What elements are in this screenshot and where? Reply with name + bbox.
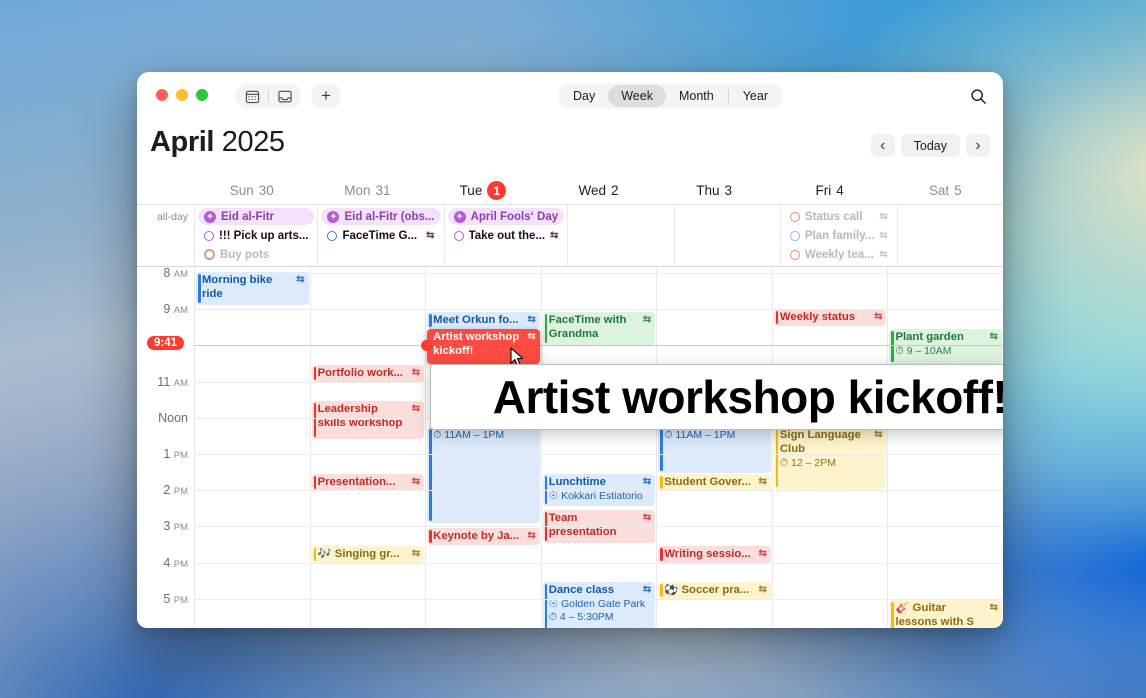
day-name: Fri: [816, 183, 832, 198]
day-header-sat[interactable]: Sat 5: [887, 183, 1003, 198]
event-color-bar: [891, 602, 894, 628]
event-title: Dance class: [549, 584, 639, 598]
day-number: 2: [611, 183, 619, 198]
day-number: 5: [954, 183, 962, 198]
day-name: Tue: [460, 183, 483, 198]
calendar-event[interactable]: ⏱ 11AM – 1PM: [658, 427, 771, 473]
event-title: Writing sessio...: [664, 548, 754, 562]
hour-line: [194, 273, 1003, 274]
event-title: Plan family...: [805, 230, 874, 242]
event-title: Portfolio work...: [318, 367, 408, 381]
hour-label: 3 PM: [163, 519, 188, 533]
day-number: 30: [259, 183, 274, 198]
event-color-bar: [660, 548, 663, 561]
day-header-fri[interactable]: Fri 4: [772, 183, 888, 198]
event-color-bar: [891, 331, 894, 362]
next-week-button[interactable]: ›: [966, 134, 990, 157]
event-time: ⏱ 11AM – 1PM: [664, 429, 767, 442]
hour-line: [194, 490, 1003, 491]
event-time: ⏱ 9 – 10AM: [895, 345, 998, 358]
day-column-thu[interactable]: ⏱ 11AM – 1PMStudent Gover...⇆Writing ses…: [656, 267, 772, 628]
day-name: Wed: [579, 183, 607, 198]
event-title: FaceTime with Grandma: [549, 314, 639, 342]
event-time: ⏱ 4 – 5:30PM: [549, 611, 652, 624]
all-day-event[interactable]: ✦ Eid al-Fitr: [198, 208, 314, 225]
event-time: ⏱ 11AM – 1PM: [433, 429, 536, 442]
event-title: Plant garden: [895, 331, 985, 345]
current-time-pill: 9:41: [147, 336, 184, 350]
maximize-button[interactable]: [196, 89, 208, 101]
all-day-reminder-completed[interactable]: Buy pots: [198, 246, 314, 263]
reminder-circle-icon[interactable]: [204, 231, 214, 241]
day-header-mon[interactable]: Mon 31: [310, 183, 426, 198]
repeat-icon: ⇆: [412, 367, 420, 379]
hour-label: Noon: [158, 411, 188, 425]
hour-label: 9 AM: [163, 302, 188, 316]
calendar-event[interactable]: ⏱ 11AM – 1PM: [427, 427, 540, 523]
hour-label: 5 PM: [163, 592, 188, 606]
all-day-column-sat[interactable]: [897, 205, 1003, 266]
repeat-icon: ⇆: [759, 476, 767, 488]
hour-label: 4 PM: [163, 556, 188, 570]
event-color-bar: [314, 403, 317, 437]
day-column-fri[interactable]: Weekly status⇆Sign Language Club⇆⏱ 12 – …: [772, 267, 888, 628]
reminder-circle-icon[interactable]: [454, 231, 464, 241]
calendar-window: + Day Week Month Year April 2025 ‹ Today…: [137, 72, 1003, 628]
calendar-event[interactable]: Plant garden⇆⏱ 9 – 10AM: [889, 329, 1002, 364]
all-day-label: all-day: [137, 205, 194, 266]
calendar-event[interactable]: Leadership skills workshop⇆: [312, 401, 425, 439]
calendar-event[interactable]: Dance class⇆☉ Golden Gate Park⏱ 4 – 5:30…: [543, 582, 656, 628]
event-color-bar: [429, 429, 432, 521]
event-title: Leadership skills workshop: [318, 403, 408, 431]
event-title: Status call: [805, 211, 874, 223]
day-number: 31: [375, 183, 390, 198]
all-day-event[interactable]: ✦ Eid al-Fitr (obs...: [321, 208, 440, 225]
day-name: Sun: [230, 183, 254, 198]
hour-label: 8 AM: [163, 266, 188, 280]
calendar-event[interactable]: FaceTime with Grandma⇆: [543, 312, 656, 345]
close-button[interactable]: [156, 89, 168, 101]
drag-zoom-overlay: Artist workshop kickoff!: [430, 364, 1003, 430]
repeat-icon: ⇆: [879, 249, 887, 260]
event-title: Eid al-Fitr (obs...: [344, 211, 434, 223]
event-color-bar: [660, 584, 663, 597]
calendar-event[interactable]: 🎶 Singing gr...⇆: [312, 546, 425, 563]
all-day-column-sun[interactable]: ✦ Eid al-Fitr !!! Pick up arts... Buy po…: [194, 205, 317, 266]
event-title: Sign Language Club: [780, 429, 870, 457]
repeat-icon: ⇆: [643, 512, 651, 524]
day-column-mon[interactable]: Portfolio work...⇆Leadership skills work…: [310, 267, 426, 628]
calendar-event[interactable]: Presentation...⇆: [312, 474, 425, 491]
holiday-star-icon: ✦: [204, 211, 216, 223]
repeat-icon: ⇆: [759, 548, 767, 560]
calendar-event[interactable]: Portfolio work...⇆: [312, 365, 425, 382]
day-column-wed[interactable]: FaceTime with Grandma⇆Lunchtime⇆☉ Kokkar…: [541, 267, 657, 628]
day-name: Thu: [696, 183, 719, 198]
event-color-bar: [314, 548, 317, 561]
all-day-reminder[interactable]: Take out the... ⇆: [448, 227, 565, 244]
calendar-event[interactable]: Writing sessio...⇆: [658, 546, 771, 563]
event-color-bar: [314, 476, 317, 489]
event-title: Student Gover...: [664, 476, 754, 490]
tab-year[interactable]: Year: [730, 85, 781, 107]
view-mode-tabs: Day Week Month Year: [558, 83, 783, 109]
timed-grid[interactable]: 8 AM9 AM11 AMNoon1 PM2 PM3 PM4 PM5 PM Mo…: [137, 266, 1003, 628]
reminder-circle-icon[interactable]: [790, 231, 800, 241]
hour-line: [194, 454, 1003, 455]
day-header-sun[interactable]: Sun 30: [194, 183, 310, 198]
tab-week[interactable]: Week: [608, 85, 666, 107]
traffic-lights: [156, 89, 208, 101]
hour-line: [194, 526, 1003, 527]
repeat-icon: ⇆: [759, 584, 767, 596]
event-color-bar: [198, 274, 201, 303]
repeat-icon: ⇆: [550, 230, 558, 241]
calendar-event[interactable]: Weekly status⇆: [774, 309, 887, 326]
calendar-event[interactable]: Morning bike ride⇆: [196, 272, 309, 305]
repeat-icon: ⇆: [879, 211, 887, 222]
all-day-column-mon[interactable]: ✦ Eid al-Fitr (obs... FaceTime G... ⇆: [317, 205, 443, 266]
event-color-bar: [660, 476, 663, 489]
day-header-wed[interactable]: Wed 2: [541, 183, 657, 198]
tab-divider: [728, 90, 729, 103]
event-location: ☉ Kokkari Estiatorio: [549, 490, 652, 503]
day-name: Sat: [929, 183, 949, 198]
time-gutter: 8 AM9 AM11 AMNoon1 PM2 PM3 PM4 PM5 PM: [137, 267, 194, 628]
all-day-reminder[interactable]: Plan family... ⇆: [784, 227, 894, 244]
calendar-event[interactable]: 🎸 Guitar lessons with S⇆: [889, 600, 1002, 628]
add-event-button[interactable]: +: [311, 83, 341, 109]
calendar-event[interactable]: Meet Orkun fo...⇆: [427, 312, 540, 329]
all-day-column-wed[interactable]: [567, 205, 673, 266]
event-color-bar: [429, 314, 432, 327]
event-color-bar: [545, 584, 548, 628]
repeat-icon: ⇆: [412, 403, 420, 415]
today-badge: 1: [487, 181, 506, 200]
hour-line: [194, 599, 1003, 600]
event-title: Eid al-Fitr: [221, 211, 308, 223]
day-name: Mon: [344, 183, 370, 198]
repeat-icon: ⇆: [643, 314, 651, 326]
day-header-thu[interactable]: Thu 3: [656, 183, 772, 198]
repeat-icon: ⇆: [296, 274, 304, 286]
repeat-icon: ⇆: [412, 548, 420, 560]
repeat-icon: ⇆: [527, 530, 535, 542]
minimize-button[interactable]: [176, 89, 188, 101]
all-day-row: all-day ✦ Eid al-Fitr !!! Pick up arts..…: [137, 204, 1003, 266]
calendar-event[interactable]: Sign Language Club⇆⏱ 12 – 2PM: [774, 427, 887, 489]
all-day-reminder[interactable]: Weekly tea... ⇆: [784, 246, 894, 263]
tab-day[interactable]: Day: [560, 85, 608, 107]
previous-week-button[interactable]: ‹: [871, 134, 895, 157]
repeat-icon: ⇆: [412, 476, 420, 488]
event-title: Take out the...: [469, 230, 545, 242]
day-column-sun[interactable]: Morning bike ride⇆: [194, 267, 310, 628]
event-color-bar: [429, 530, 432, 543]
holiday-star-icon: ✦: [327, 211, 339, 223]
reminder-circle-icon[interactable]: [790, 212, 800, 222]
event-color-bar: [314, 367, 317, 380]
calendar-event[interactable]: ⚽ Soccer pra...⇆: [658, 582, 771, 599]
event-title: FaceTime G...: [342, 230, 421, 242]
all-day-reminder[interactable]: !!! Pick up arts...: [198, 227, 314, 244]
repeat-icon: ⇆: [879, 230, 887, 241]
day-number: 3: [724, 183, 732, 198]
drag-zoom-text: Artist workshop kickoff!: [493, 370, 1003, 424]
event-title: Keynote by Ja...: [433, 530, 523, 544]
current-time-dot: [421, 340, 432, 351]
inbox-icon[interactable]: [269, 83, 301, 109]
repeat-icon: ⇆: [990, 602, 998, 614]
event-title: 🎶 Singing gr...: [318, 548, 408, 562]
all-day-column-fri[interactable]: Status call ⇆ Plan family... ⇆ Weekly te…: [780, 205, 897, 266]
repeat-icon: ⇆: [527, 331, 535, 343]
today-button[interactable]: Today: [901, 134, 960, 157]
event-title: Morning bike ride: [202, 274, 292, 302]
year-label: 2025: [222, 126, 285, 158]
event-title: April Fools‘ Day: [471, 211, 559, 223]
event-color-bar: [660, 429, 663, 471]
hour-label: 11 AM: [157, 375, 188, 389]
all-day-reminder[interactable]: FaceTime G... ⇆: [321, 227, 440, 244]
reminder-circle-icon[interactable]: [327, 231, 337, 241]
hour-line: [194, 563, 1003, 564]
reminder-circle-icon[interactable]: [790, 250, 800, 260]
day-column-sat[interactable]: Plant garden⇆⏱ 9 – 10AM🎸 Guitar lessons …: [887, 267, 1003, 628]
all-day-column-thu[interactable]: [674, 205, 780, 266]
event-title: !!! Pick up arts...: [219, 230, 308, 242]
current-time-line: [194, 345, 1003, 346]
toolbar-view-group: [236, 83, 301, 109]
month-name: April: [150, 126, 214, 158]
holiday-star-icon: ✦: [454, 211, 466, 223]
event-color-bar: [776, 429, 779, 487]
calendar-event[interactable]: Student Gover...⇆: [658, 474, 771, 491]
event-title: 🎸 Guitar lessons with S: [895, 602, 985, 628]
search-icon[interactable]: [964, 82, 992, 110]
all-day-reminder[interactable]: Status call ⇆: [784, 208, 894, 225]
hour-columns: 8 AM9 AM11 AMNoon1 PM2 PM3 PM4 PM5 PM Mo…: [137, 267, 1003, 628]
event-title: ⚽ Soccer pra...: [664, 584, 754, 598]
repeat-icon: ⇆: [643, 476, 651, 488]
calendar-event[interactable]: Keynote by Ja...⇆: [427, 528, 540, 545]
repeat-icon: ⇆: [990, 331, 998, 343]
repeat-icon: ⇆: [643, 584, 651, 596]
date-navigation: ‹ Today ›: [871, 134, 990, 157]
event-time: ⏱ 12 – 2PM: [780, 457, 883, 470]
tab-month[interactable]: Month: [666, 85, 727, 107]
day-header-tue[interactable]: Tue 1: [425, 181, 541, 200]
repeat-icon: ⇆: [874, 311, 882, 323]
day-headers: Sun 30 Mon 31 Tue 1 Wed 2 Thu 3 Fri 4: [137, 177, 1003, 204]
calendar-icon[interactable]: [236, 83, 268, 109]
event-title: Buy pots: [220, 249, 308, 261]
day-number: 4: [836, 183, 844, 198]
page-title: April 2025: [150, 126, 285, 159]
repeat-icon: ⇆: [426, 230, 434, 241]
all-day-column-tue[interactable]: ✦ April Fools‘ Day Take out the... ⇆: [444, 205, 568, 266]
repeat-icon: ⇆: [874, 429, 882, 441]
repeat-icon: ⇆: [527, 314, 535, 326]
event-title: Weekly status: [780, 311, 870, 325]
all-day-event[interactable]: ✦ April Fools‘ Day: [448, 208, 565, 225]
event-title: Presentation...: [318, 476, 408, 490]
event-title: Meet Orkun fo...: [433, 314, 523, 328]
event-color-bar: [776, 311, 779, 324]
event-title: Lunchtime: [549, 476, 639, 490]
hour-label: 1 PM: [163, 447, 188, 461]
reminder-completed-icon[interactable]: [204, 249, 215, 260]
day-column-tue[interactable]: Meet Orkun fo...⇆Artist workshop kickoff…: [425, 267, 541, 628]
hour-label: 2 PM: [163, 483, 188, 497]
event-color-bar: [545, 314, 548, 343]
event-title: Weekly tea...: [805, 249, 874, 261]
hour-line: [194, 309, 1003, 310]
